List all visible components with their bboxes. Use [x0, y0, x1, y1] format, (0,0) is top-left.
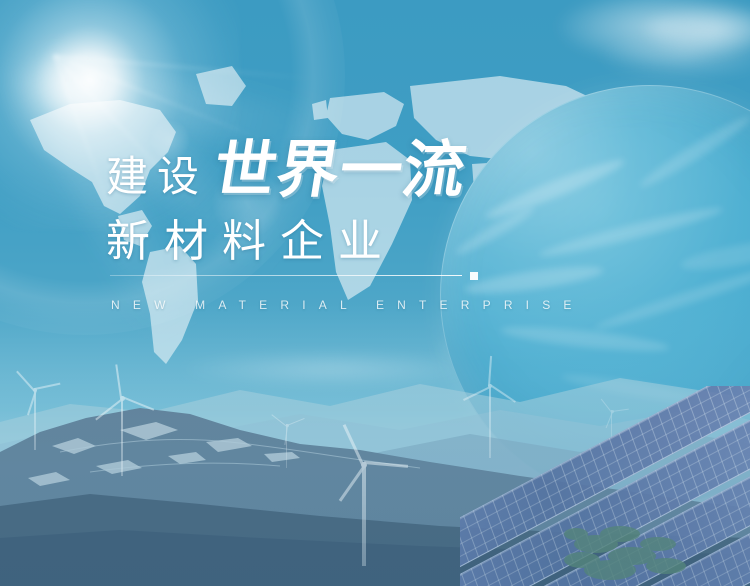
headline-group: 建设 世界一流 新材料企业	[106, 136, 666, 264]
foreground-shrub	[562, 500, 692, 586]
wind-turbine	[336, 462, 392, 566]
subtitle: NEW MATERIAL ENTERPRISE	[111, 298, 585, 312]
wind-turbine	[18, 388, 52, 450]
headline-secondary: 新材料企业	[106, 220, 396, 264]
headline-emphasis: 世界一流	[209, 140, 471, 202]
divider	[110, 272, 478, 280]
headline-line-2: 新材料企业	[106, 216, 666, 264]
hero-banner: 建设 世界一流 新材料企业 NEW MATERIAL ENTERPRISE	[0, 0, 750, 586]
divider-end-marker	[470, 272, 478, 280]
wind-turbine	[100, 396, 144, 476]
wind-turbine	[274, 424, 300, 468]
headline-prefix: 建设	[106, 156, 208, 198]
headline-line-1: 建设 世界一流	[106, 136, 666, 198]
divider-line	[110, 275, 462, 276]
